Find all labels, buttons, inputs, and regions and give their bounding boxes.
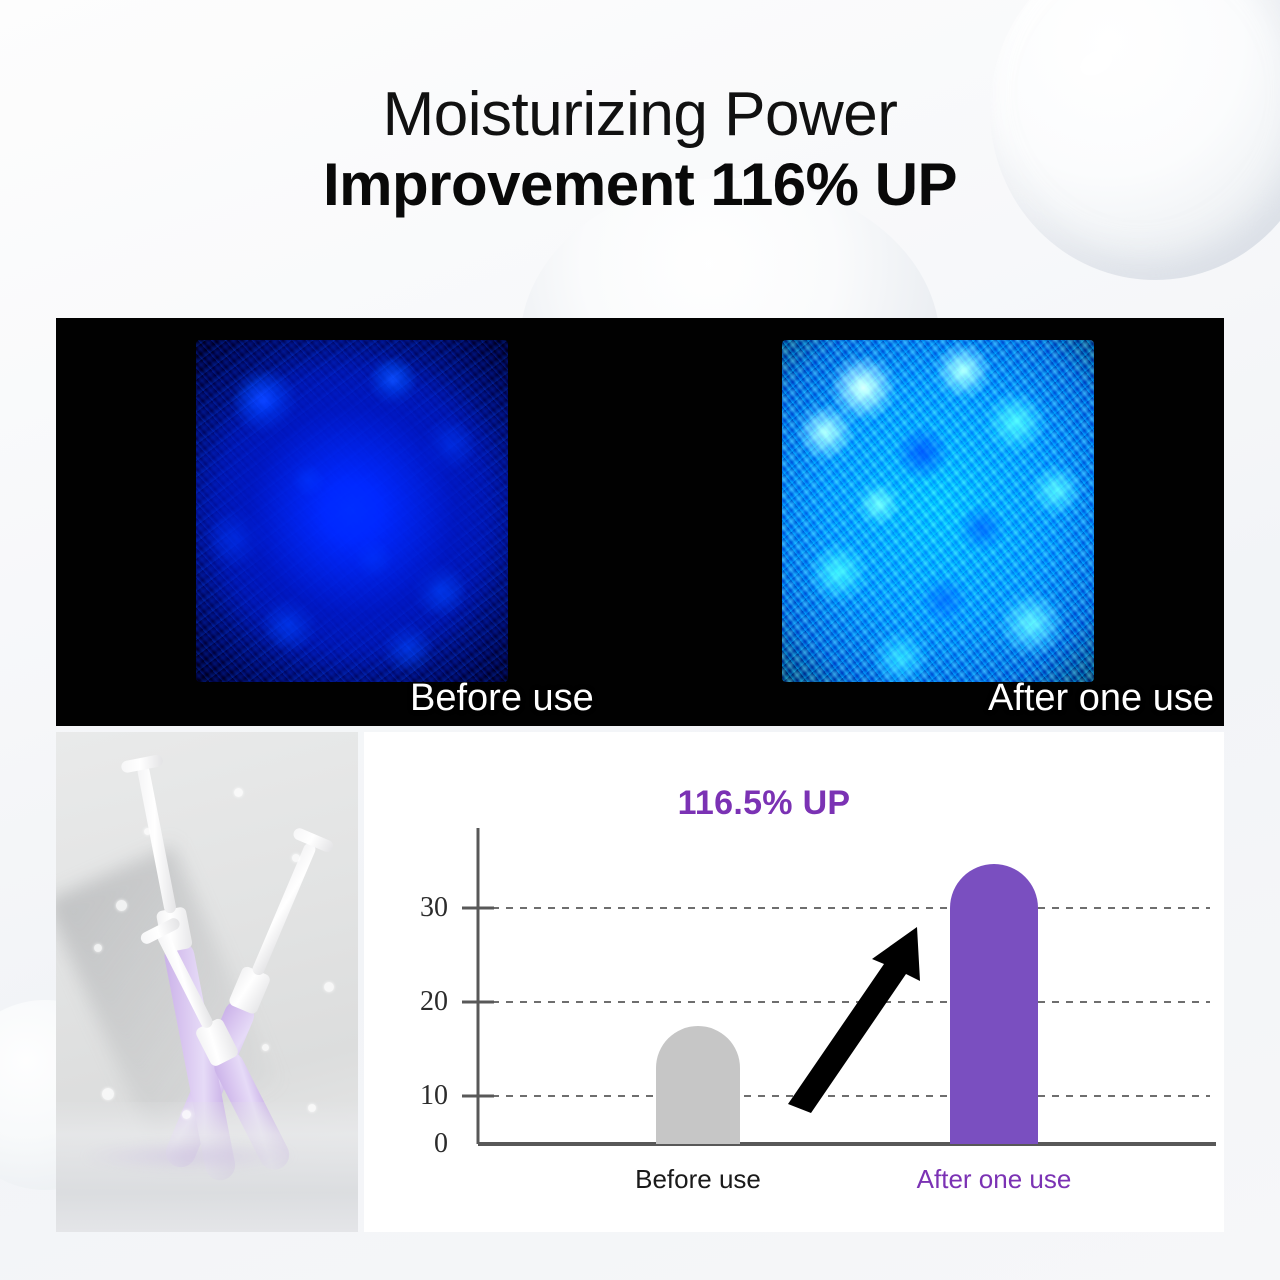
- y-axis-labels: 30 20 10 0: [384, 732, 448, 1232]
- applicator-plunger: [251, 841, 318, 976]
- y-tick-label: 20: [420, 986, 448, 1018]
- water-droplet-icon: [234, 788, 243, 797]
- up-arrow-icon: [788, 927, 920, 1113]
- microscopy-image-after: [782, 340, 1094, 682]
- microscopy-label-before: Before use: [410, 677, 594, 720]
- title-line-primary: Moisturizing Power: [0, 82, 1280, 147]
- bar-chart-panel: 116.5% UP: [364, 732, 1224, 1232]
- water-droplet-icon: [262, 1044, 269, 1051]
- water-droplet-icon: [308, 1104, 316, 1112]
- microscopy-comparison-panel: Before use After one use: [56, 318, 1224, 726]
- water-droplet-icon: [144, 828, 151, 835]
- bar-after-one-use: [950, 864, 1038, 1144]
- y-tick-label: 0: [434, 1128, 448, 1160]
- product-photo: [56, 732, 358, 1232]
- promo-infographic: Moisturizing Power Improvement 116% UP B…: [0, 0, 1280, 1280]
- bottom-row: 116.5% UP: [56, 732, 1224, 1232]
- microscopy-image-before: [196, 340, 508, 682]
- water-droplet-icon: [324, 982, 334, 992]
- water-droplet-icon: [292, 854, 300, 862]
- y-tick-label: 30: [420, 892, 448, 924]
- y-tick-label: 10: [420, 1080, 448, 1112]
- page-title: Moisturizing Power Improvement 116% UP: [0, 82, 1280, 222]
- x-tick-label-before: Before use: [635, 1164, 761, 1195]
- microscopy-label-after: After one use: [988, 677, 1214, 720]
- gridlines: [478, 908, 1210, 1096]
- title-line-emphasis: Improvement 116% UP: [0, 147, 1280, 222]
- x-tick-label-after: After one use: [917, 1164, 1072, 1195]
- bar-before-use: [656, 1026, 740, 1144]
- water-surface: [56, 1102, 358, 1232]
- water-droplet-icon: [116, 900, 127, 911]
- bar-chart-svg: [364, 732, 1224, 1232]
- water-droplet-icon: [182, 1110, 191, 1119]
- water-droplet-icon: [94, 944, 102, 952]
- water-droplet-icon: [102, 1088, 114, 1100]
